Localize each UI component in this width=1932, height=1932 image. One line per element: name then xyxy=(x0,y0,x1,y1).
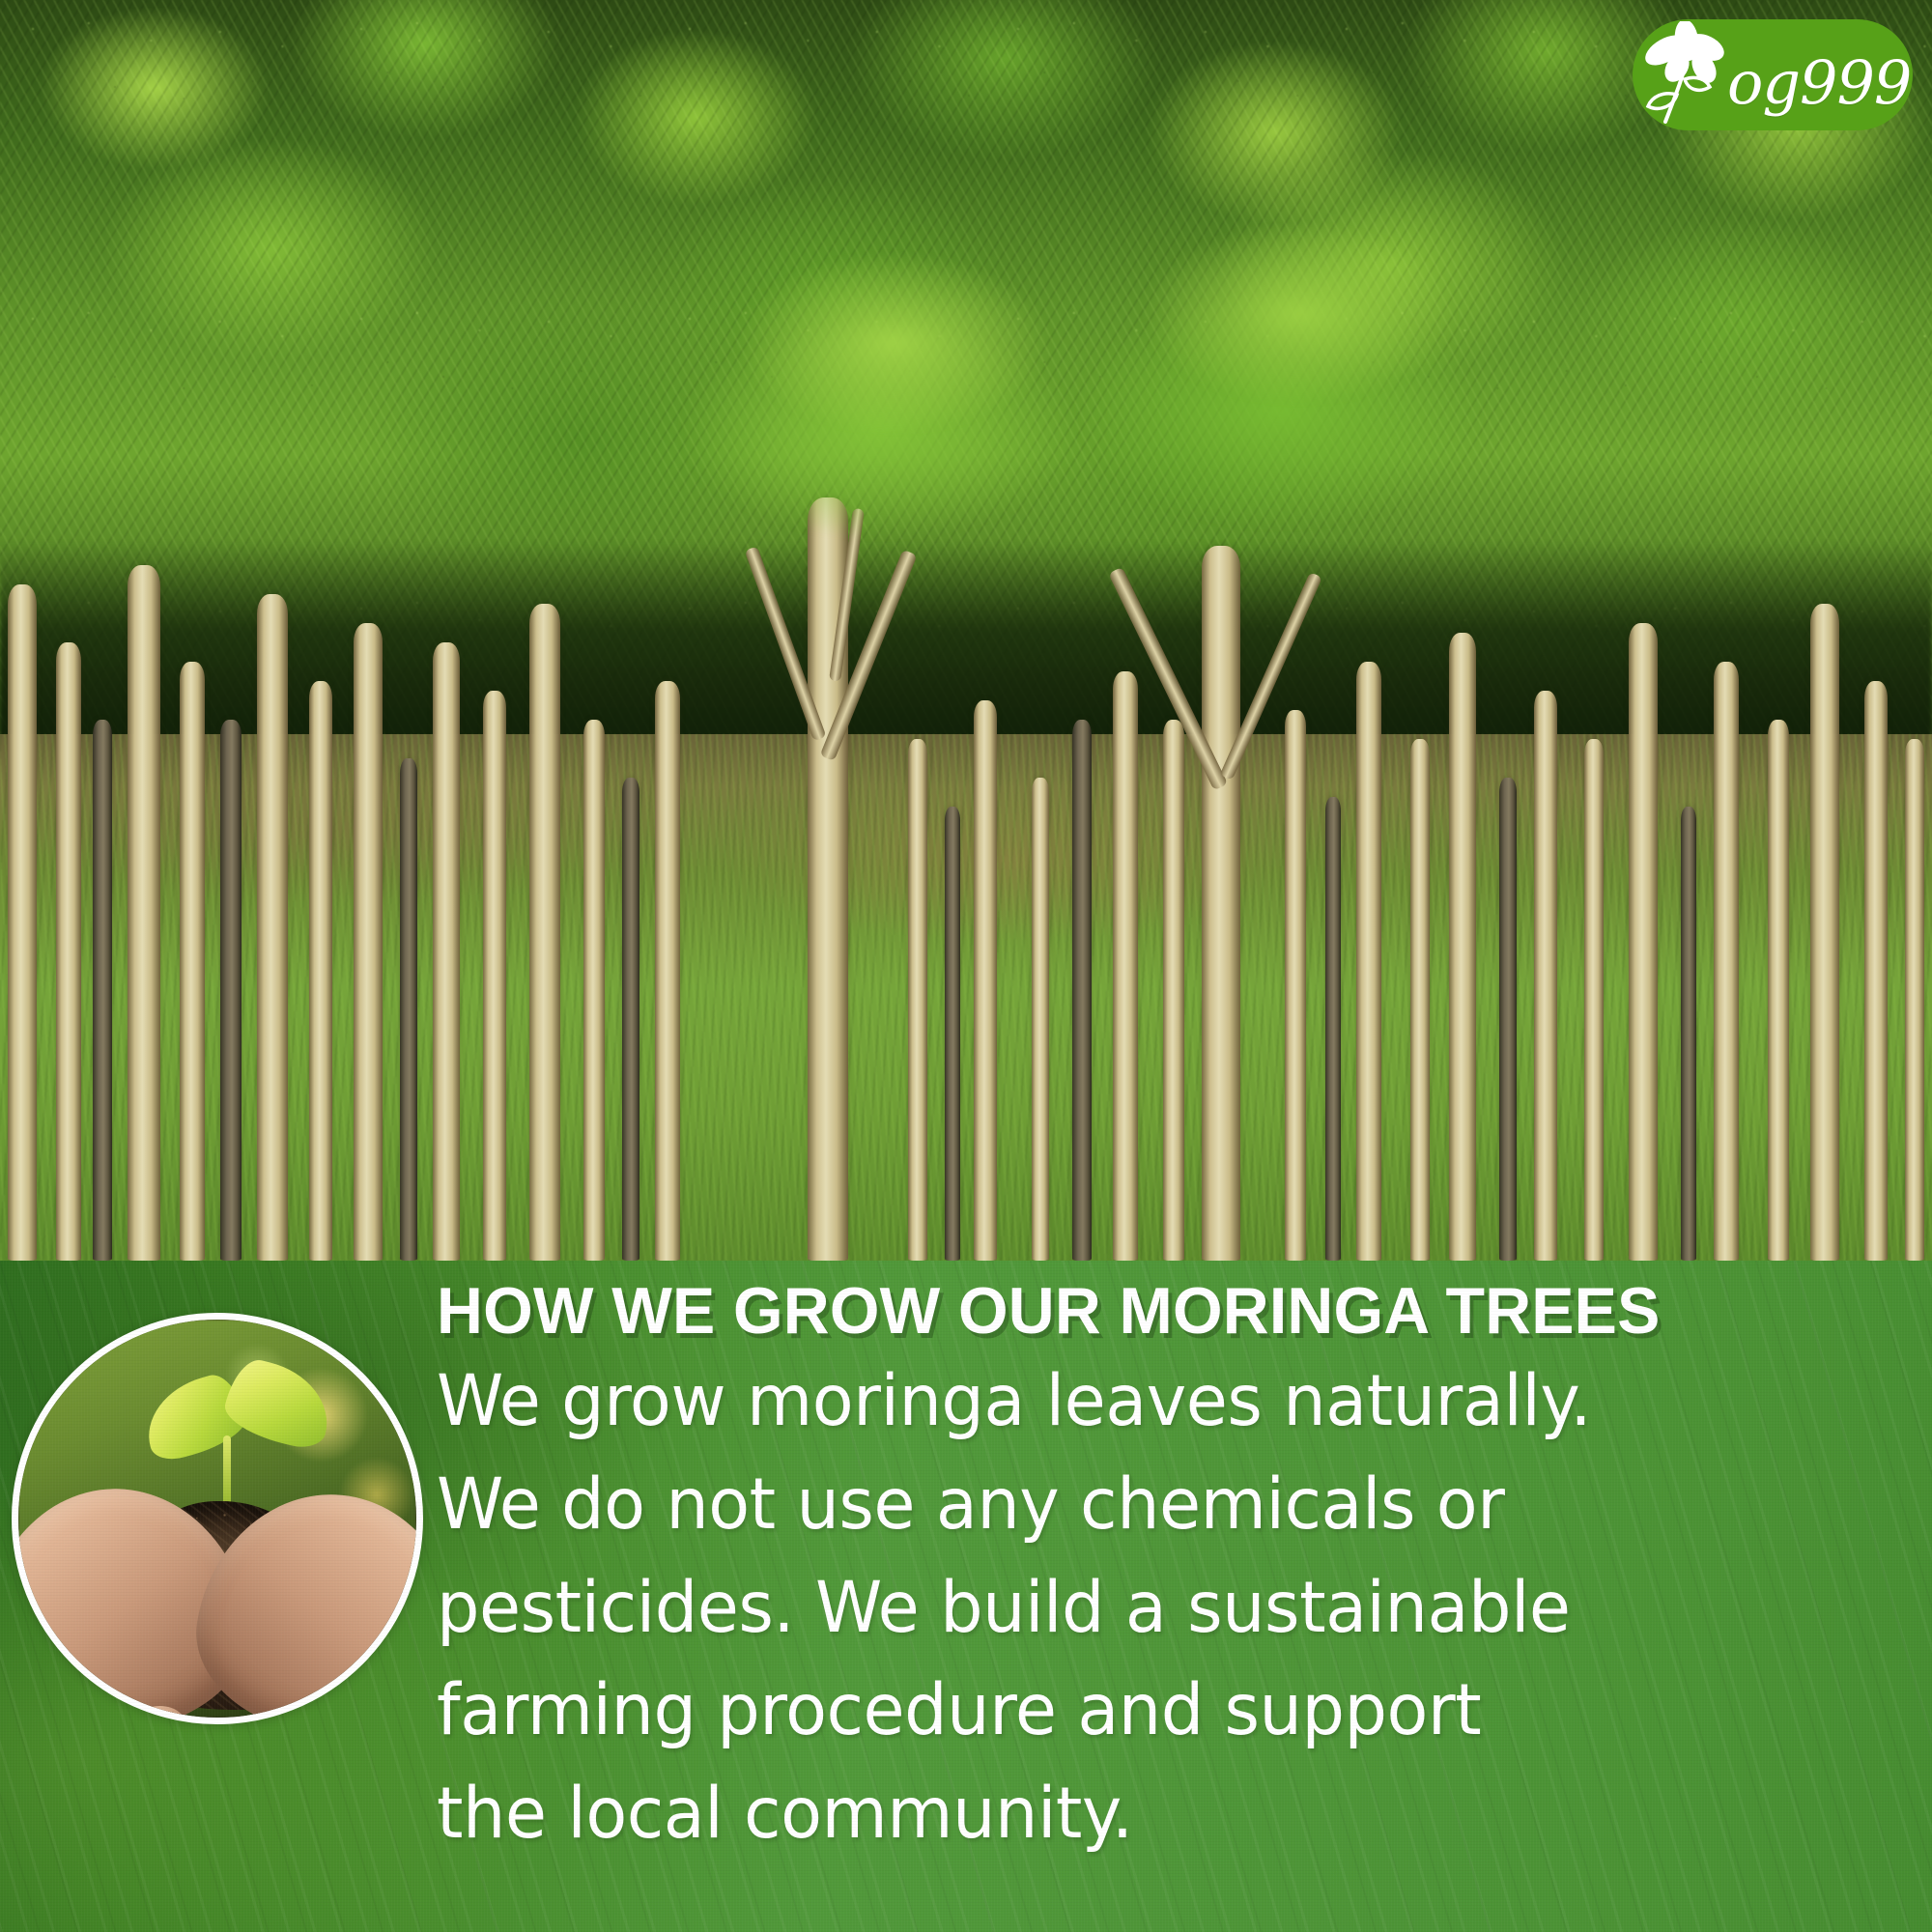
tree-trunk xyxy=(1072,720,1092,1261)
tree-trunk xyxy=(93,720,112,1261)
tree-trunk xyxy=(1032,778,1049,1261)
tree-trunk xyxy=(1584,739,1604,1261)
tree-trunk xyxy=(1714,662,1739,1261)
tree-trunk xyxy=(622,778,639,1261)
body-line: We grow moringa leaves naturally. xyxy=(437,1350,1864,1454)
tree-trunk xyxy=(945,807,960,1261)
poster-root: og999 HOW WE GROW OUR MORINGA TREES We g… xyxy=(0,0,1932,1932)
tree-trunk xyxy=(1681,807,1696,1261)
body-line: the local community. xyxy=(437,1763,1864,1866)
tree-trunk xyxy=(1113,671,1138,1261)
brand-logo[interactable]: og999 xyxy=(1633,19,1913,130)
tree-trunk xyxy=(655,681,680,1261)
tree-trunk xyxy=(1905,739,1924,1261)
finger xyxy=(257,1707,331,1724)
seedling-inset-photo xyxy=(12,1313,423,1724)
info-panel: HOW WE GROW OUR MORINGA TREES We grow mo… xyxy=(0,1261,1932,1932)
tree-trunk xyxy=(483,691,506,1261)
tree-trunk xyxy=(1163,720,1184,1261)
tree-trunk xyxy=(1810,604,1839,1261)
tree-trunk xyxy=(583,720,605,1261)
finger xyxy=(12,1687,57,1724)
tree-trunk xyxy=(1499,778,1517,1261)
tree-trunk xyxy=(1285,710,1306,1261)
tree-trunk xyxy=(400,758,417,1261)
tree-trunk xyxy=(908,739,927,1261)
finger xyxy=(114,1701,191,1724)
tree-trunk xyxy=(1534,691,1557,1261)
tree-trunk xyxy=(354,623,383,1261)
tree-trunk xyxy=(56,642,81,1261)
tree-trunk xyxy=(1356,662,1381,1261)
tree-trunk xyxy=(1768,720,1789,1261)
tree-trunk xyxy=(1629,623,1658,1261)
tree-trunk xyxy=(1449,633,1476,1261)
leaf-clump xyxy=(1140,222,1459,406)
panel-copy: HOW WE GROW OUR MORINGA TREES We grow mo… xyxy=(437,1278,1924,1865)
body-line: pesticides. We build a sustainable xyxy=(437,1557,1864,1661)
logo-wordmark: og999 xyxy=(1727,53,1911,113)
tree-trunk xyxy=(220,720,241,1261)
tree-trunk xyxy=(433,642,460,1261)
tree-trunk xyxy=(1410,739,1430,1261)
tree-trunk xyxy=(180,662,205,1261)
tree-trunk xyxy=(128,565,160,1261)
tree-trunk xyxy=(974,700,997,1261)
tree-trunk xyxy=(309,681,332,1261)
page-title: HOW WE GROW OUR MORINGA TREES xyxy=(437,1278,1888,1345)
tree-trunk xyxy=(1202,546,1240,1261)
finger xyxy=(38,1697,124,1724)
tree-trunk xyxy=(529,604,560,1261)
body-line: farming procedure and support xyxy=(437,1660,1864,1763)
leaf-clump xyxy=(734,251,1053,435)
body-line: We do not use any chemicals or xyxy=(437,1454,1864,1557)
hero-photo: og999 xyxy=(0,0,1932,1261)
tree-trunk xyxy=(1325,797,1341,1261)
tree-trunk xyxy=(1864,681,1888,1261)
tree-trunk xyxy=(8,584,37,1261)
tree-trunk xyxy=(257,594,288,1261)
finger xyxy=(323,1704,408,1724)
